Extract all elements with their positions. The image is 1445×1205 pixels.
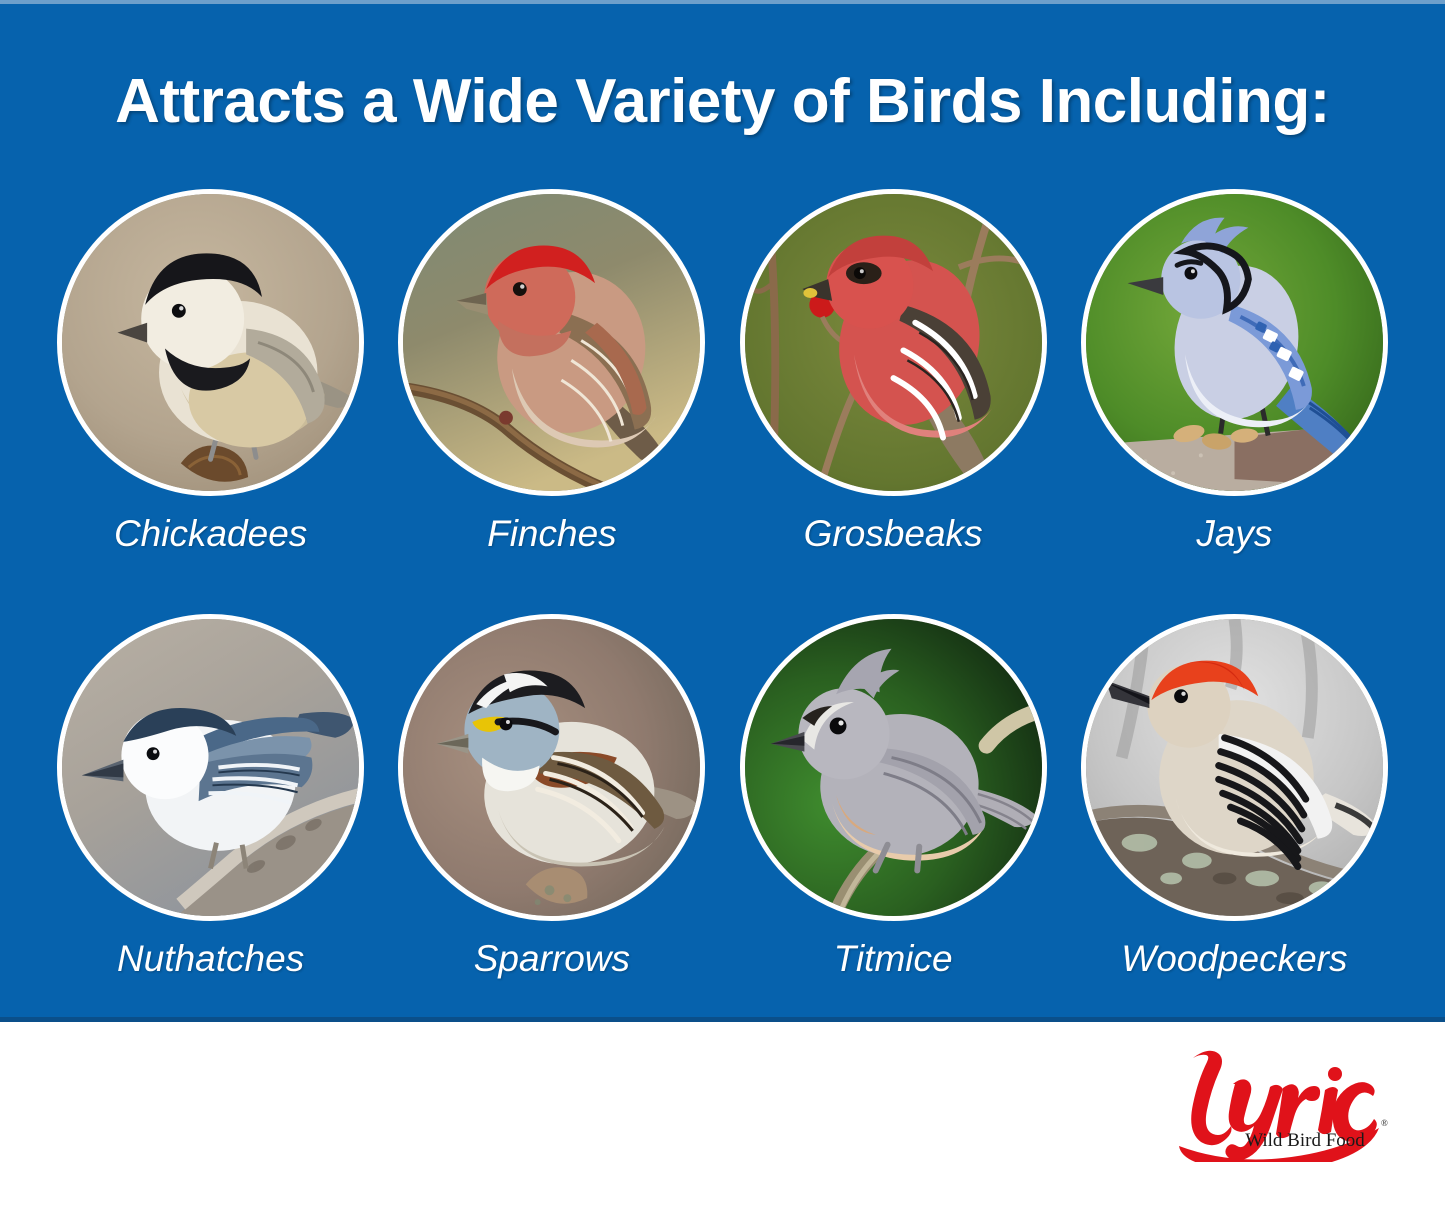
bird-label: Grosbeaks: [804, 512, 983, 556]
jay-photo: [1081, 189, 1388, 496]
page-title: Attracts a Wide Variety of Birds Includi…: [0, 66, 1445, 138]
bird-label: Chickadees: [114, 512, 307, 556]
bird-cell-chickadees[interactable]: Chickadees: [40, 189, 381, 556]
bird-cell-sparrows[interactable]: Sparrows: [381, 614, 722, 981]
bird-cell-nuthatches[interactable]: Nuthatches: [40, 614, 381, 981]
bird-label: Titmice: [834, 937, 953, 981]
bird-cell-titmice[interactable]: Titmice: [723, 614, 1064, 981]
bird-cell-grosbeaks[interactable]: Grosbeaks: [723, 189, 1064, 556]
grosbeak-photo: [740, 189, 1047, 496]
nuthatch-photo: [57, 614, 364, 921]
footer: ® Wild Bird Food: [0, 1022, 1445, 1205]
bird-label: Sparrows: [474, 937, 630, 981]
blue-feature-panel: Attracts a Wide Variety of Birds Includi…: [0, 0, 1445, 1022]
titmouse-photo: [740, 614, 1047, 921]
bird-grid: Chickadees: [40, 189, 1405, 981]
registered-mark: ®: [1381, 1118, 1388, 1128]
bird-label: Woodpeckers: [1121, 937, 1347, 981]
bird-label: Finches: [487, 512, 617, 556]
bird-label: Nuthatches: [117, 937, 304, 981]
lyric-brand-logo: ® Wild Bird Food: [1157, 1040, 1397, 1162]
chickadee-photo: [57, 189, 364, 496]
bird-cell-finches[interactable]: Finches: [381, 189, 722, 556]
bird-cell-jays[interactable]: Jays: [1064, 189, 1405, 556]
woodpecker-photo: [1081, 614, 1388, 921]
bird-cell-woodpeckers[interactable]: Woodpeckers: [1064, 614, 1405, 981]
sparrow-photo: [398, 614, 705, 921]
bird-label: Jays: [1196, 512, 1272, 556]
page-root: Attracts a Wide Variety of Birds Includi…: [0, 0, 1445, 1205]
finch-photo: [398, 189, 705, 496]
brand-tagline: Wild Bird Food: [1245, 1130, 1365, 1151]
